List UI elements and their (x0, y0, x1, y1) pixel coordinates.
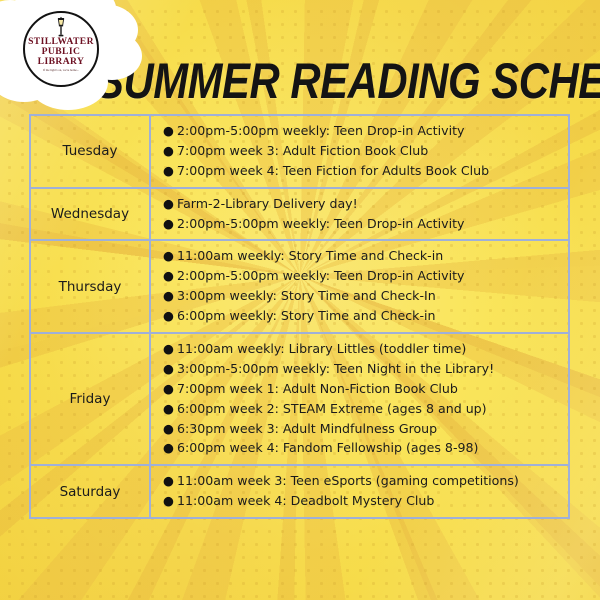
table-row: Thursday●11:00am weekly: Story Time and … (30, 240, 569, 333)
bullet-icon: ● (163, 339, 174, 359)
event-list: ●11:00am weekly: Story Time and Check-in… (155, 246, 562, 326)
list-item: ●Farm-2-Library Delivery day! (177, 194, 562, 214)
table-row: Wednesday●Farm-2-Library Delivery day!●2… (30, 188, 569, 241)
list-item: ●3:00pm weekly: Story Time and Check-In (177, 286, 562, 306)
event-text: 3:00pm weekly: Story Time and Check-In (177, 288, 436, 303)
event-text: 2:00pm-5:00pm weekly: Teen Drop-in Activ… (177, 268, 464, 283)
list-item: ●6:00pm week 2: STEAM Extreme (ages 8 an… (177, 399, 562, 419)
list-item: ●11:00am week 3: Teen eSports (gaming co… (177, 471, 562, 491)
list-item: ●3:00pm-5:00pm weekly: Teen Night in the… (177, 359, 562, 379)
bullet-icon: ● (163, 438, 174, 458)
list-item: ●6:00pm weekly: Story Time and Check-in (177, 306, 562, 326)
bullet-icon: ● (163, 246, 174, 266)
bullet-icon: ● (163, 306, 174, 326)
bullet-icon: ● (163, 379, 174, 399)
bullet-icon: ● (163, 419, 174, 439)
event-text: Farm-2-Library Delivery day! (177, 196, 358, 211)
event-text: 11:00am week 3: Teen eSports (gaming com… (177, 473, 519, 488)
bullet-icon: ● (163, 194, 174, 214)
event-text: 3:00pm-5:00pm weekly: Teen Night in the … (177, 361, 494, 376)
table-row: Friday●11:00am weekly: Library Littles (… (30, 333, 569, 465)
event-text: 7:00pm week 3: Adult Fiction Book Club (177, 143, 428, 158)
logo-tagline: If the light's on, we're home... (35, 68, 86, 72)
list-item: ●7:00pm week 1: Adult Non-Fiction Book C… (177, 379, 562, 399)
table-row: Tuesday●2:00pm-5:00pm weekly: Teen Drop-… (30, 115, 569, 188)
library-logo-badge: STILLWATER PUBLIC LIBRARY If the light's… (23, 11, 99, 87)
event-list: ●11:00am weekly: Library Littles (toddle… (155, 339, 562, 458)
event-text: 6:00pm week 4: Fandom Fellowship (ages 8… (177, 440, 478, 455)
list-item: ●11:00am week 4: Deadbolt Mystery Club (177, 491, 562, 511)
bullet-icon: ● (163, 399, 174, 419)
bullet-icon: ● (163, 286, 174, 306)
day-label-cell: Thursday (30, 240, 150, 333)
events-cell: ●11:00am weekly: Story Time and Check-in… (150, 240, 569, 333)
bullet-icon: ● (163, 491, 174, 511)
day-label-cell: Friday (30, 333, 150, 465)
list-item: ●6:00pm week 4: Fandom Fellowship (ages … (177, 438, 562, 458)
event-text: 6:00pm week 2: STEAM Extreme (ages 8 and… (177, 401, 487, 416)
lamp-post-icon (51, 16, 71, 37)
poster-canvas: STILLWATER PUBLIC LIBRARY If the light's… (0, 0, 600, 600)
event-text: 2:00pm-5:00pm weekly: Teen Drop-in Activ… (177, 216, 464, 231)
event-text: 7:00pm week 4: Teen Fiction for Adults B… (177, 163, 489, 178)
event-text: 6:30pm week 3: Adult Mindfulness Group (177, 421, 437, 436)
bullet-icon: ● (163, 266, 174, 286)
event-text: 11:00am week 4: Deadbolt Mystery Club (177, 493, 434, 508)
bullet-icon: ● (163, 141, 174, 161)
event-text: 11:00am weekly: Story Time and Check-in (177, 248, 443, 263)
bullet-icon: ● (163, 214, 174, 234)
event-list: ●Farm-2-Library Delivery day!●2:00pm-5:0… (155, 194, 562, 234)
schedule-table: Tuesday●2:00pm-5:00pm weekly: Teen Drop-… (29, 114, 570, 519)
events-cell: ●2:00pm-5:00pm weekly: Teen Drop-in Acti… (150, 115, 569, 188)
event-text: 7:00pm week 1: Adult Non-Fiction Book Cl… (177, 381, 458, 396)
bullet-icon: ● (163, 359, 174, 379)
bullet-icon: ● (163, 121, 174, 141)
day-label-cell: Saturday (30, 465, 150, 518)
events-cell: ●11:00am week 3: Teen eSports (gaming co… (150, 465, 569, 518)
bullet-icon: ● (163, 471, 174, 491)
list-item: ●2:00pm-5:00pm weekly: Teen Drop-in Acti… (177, 266, 562, 286)
list-item: ●6:30pm week 3: Adult Mindfulness Group (177, 419, 562, 439)
logo-text-line-3: LIBRARY (38, 57, 85, 67)
list-item: ●11:00am weekly: Library Littles (toddle… (177, 339, 562, 359)
page-title: SUMMER READING SCHEDULE (96, 55, 554, 105)
day-label-cell: Tuesday (30, 115, 150, 188)
events-cell: ●11:00am weekly: Library Littles (toddle… (150, 333, 569, 465)
list-item: ●11:00am weekly: Story Time and Check-in (177, 246, 562, 266)
event-list: ●11:00am week 3: Teen eSports (gaming co… (155, 471, 562, 511)
events-cell: ●Farm-2-Library Delivery day!●2:00pm-5:0… (150, 188, 569, 241)
list-item: ●2:00pm-5:00pm weekly: Teen Drop-in Acti… (177, 121, 562, 141)
event-list: ●2:00pm-5:00pm weekly: Teen Drop-in Acti… (155, 121, 562, 181)
schedule-table-body: Tuesday●2:00pm-5:00pm weekly: Teen Drop-… (30, 115, 569, 518)
event-text: 11:00am weekly: Library Littles (toddler… (177, 341, 466, 356)
list-item: ●7:00pm week 3: Adult Fiction Book Club (177, 141, 562, 161)
day-label-cell: Wednesday (30, 188, 150, 241)
event-text: 6:00pm weekly: Story Time and Check-in (177, 308, 435, 323)
event-text: 2:00pm-5:00pm weekly: Teen Drop-in Activ… (177, 123, 464, 138)
bullet-icon: ● (163, 161, 174, 181)
list-item: ●2:00pm-5:00pm weekly: Teen Drop-in Acti… (177, 214, 562, 234)
list-item: ●7:00pm week 4: Teen Fiction for Adults … (177, 161, 562, 181)
table-row: Saturday●11:00am week 3: Teen eSports (g… (30, 465, 569, 518)
